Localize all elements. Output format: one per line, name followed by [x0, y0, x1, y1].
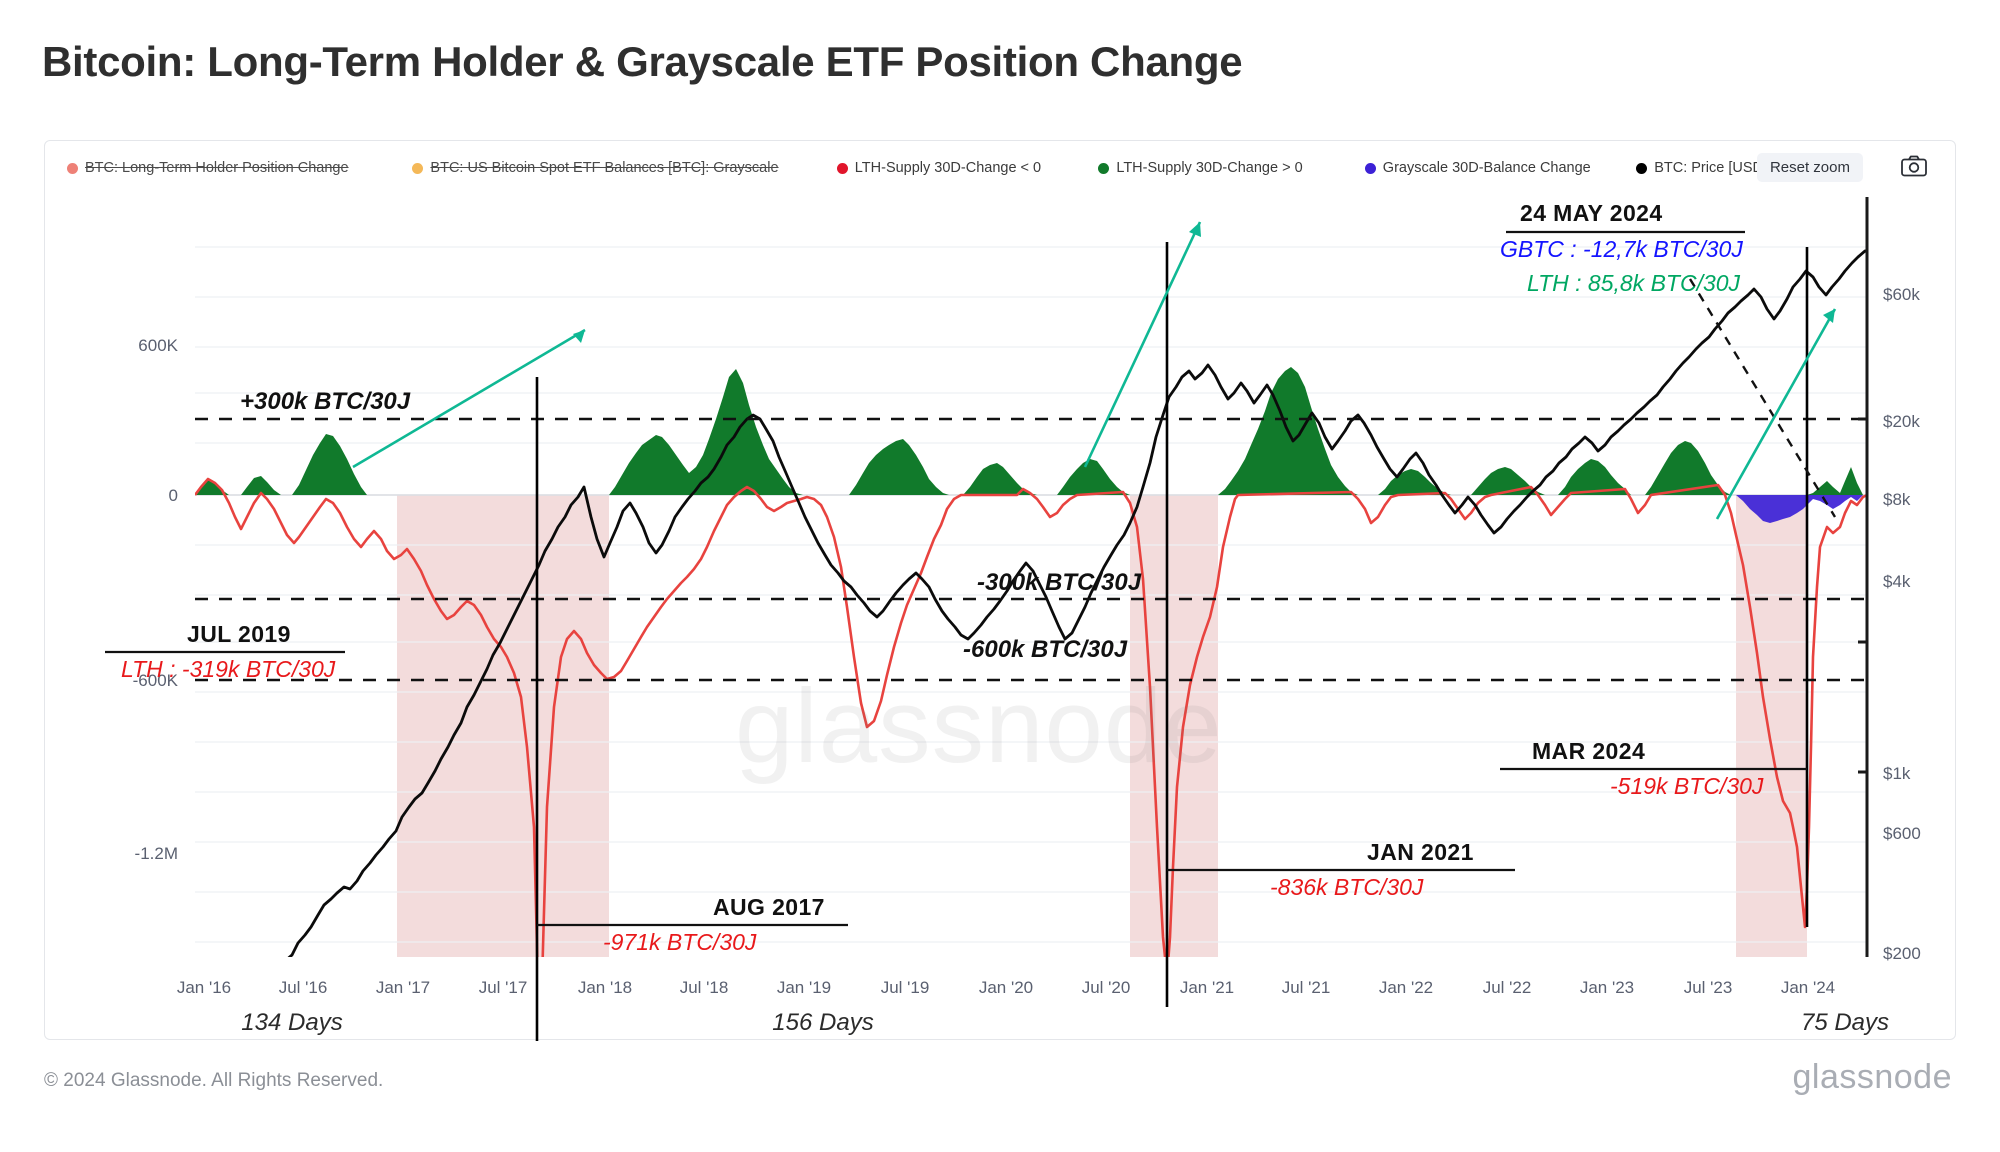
- annotation-value: -519k BTC/30J: [1610, 773, 1764, 799]
- legend-item-grayscale-etf-balances[interactable]: BTC: US Bitcoin Spot ETF Balances [BTC]:…: [412, 161, 836, 176]
- y-right-tick: $20k: [1883, 412, 1920, 431]
- days-label-134: 134 Days: [241, 1009, 342, 1036]
- plot-area: glassnode: [45, 187, 1957, 1041]
- x-tick: Jul '16: [279, 978, 328, 997]
- reset-zoom-button[interactable]: Reset zoom: [1757, 153, 1863, 182]
- trend-arrow-2: [1085, 222, 1200, 467]
- y-left-tick: 600K: [138, 336, 178, 355]
- reference-label-plus-300k: +300k BTC/30J: [240, 388, 411, 415]
- reference-label-minus-300k: -300k BTC/30J: [977, 569, 1142, 596]
- annotation-value: -971k BTC/30J: [603, 929, 757, 955]
- legend-label: LTH-Supply 30D-Change > 0: [1116, 161, 1302, 176]
- annotation-value: -836k BTC/30J: [1270, 874, 1424, 900]
- x-tick: Jan '24: [1781, 978, 1835, 997]
- x-tick: Jan '23: [1580, 978, 1634, 997]
- y-right-tick: $600: [1883, 824, 1921, 843]
- legend-dot-icon: [837, 163, 848, 174]
- x-tick: Jul '17: [479, 978, 528, 997]
- footer-copyright: © 2024 Glassnode. All Rights Reserved.: [44, 1070, 383, 1092]
- x-tick: Jul '20: [1082, 978, 1131, 997]
- annotation-title: AUG 2017: [713, 894, 825, 920]
- legend-label: BTC: Price [USD]: [1654, 161, 1767, 176]
- chart-svg: 600K 0 -600K -1.2M $60k $20k $8k $4k $1k…: [45, 187, 1957, 1041]
- legend-label: LTH-Supply 30D-Change < 0: [855, 161, 1041, 176]
- highlight-band-75-days: [1736, 495, 1807, 957]
- legend-item-lth-position-change[interactable]: BTC: Long-Term Holder Position Change: [67, 161, 412, 176]
- chart-page: Bitcoin: Long-Term Holder & Grayscale ET…: [0, 0, 2000, 1152]
- chart-legend: BTC: Long-Term Holder Position Change BT…: [67, 155, 1767, 181]
- legend-dot-icon: [1365, 163, 1376, 174]
- left-axis-labels: 600K 0 -600K -1.2M: [133, 336, 179, 863]
- x-tick: Jan '21: [1180, 978, 1234, 997]
- y-left-tick: -1.2M: [135, 844, 178, 863]
- legend-label: BTC: US Bitcoin Spot ETF Balances [BTC]:…: [430, 161, 778, 176]
- x-tick: Jul '18: [680, 978, 729, 997]
- y-right-tick: $4k: [1883, 572, 1911, 591]
- annotation-title: MAR 2024: [1532, 738, 1645, 764]
- annotation-24-may-2024: 24 MAY 2024 GBTC : -12,7k BTC/30J LTH : …: [1500, 200, 1745, 296]
- legend-dot-icon: [1098, 163, 1109, 174]
- y-right-tick: $8k: [1883, 490, 1911, 509]
- x-axis-labels: Jan '16 Jul '16 Jan '17 Jul '17 Jan '18 …: [177, 978, 1835, 997]
- page-title: Bitcoin: Long-Term Holder & Grayscale ET…: [42, 38, 1242, 86]
- y-right-tick: $200: [1883, 944, 1921, 963]
- annotation-jan-2021: JAN 2021 -836k BTC/30J: [1167, 839, 1515, 900]
- x-tick: Jan '17: [376, 978, 430, 997]
- reference-label-minus-600k: -600k BTC/30J: [963, 636, 1128, 663]
- legend-item-lth-supply-negative[interactable]: LTH-Supply 30D-Change < 0: [837, 161, 1099, 176]
- annotation-value-gbtc: GBTC : -12,7k BTC/30J: [1500, 236, 1743, 262]
- legend-dot-icon: [412, 163, 423, 174]
- chart-card: BTC: Long-Term Holder Position Change BT…: [44, 140, 1956, 1040]
- legend-item-btc-price[interactable]: BTC: Price [USD]: [1636, 161, 1767, 176]
- highlight-band-156-days: [1130, 495, 1218, 957]
- camera-icon[interactable]: [1897, 151, 1931, 181]
- right-axis-labels: $60k $20k $8k $4k $1k $600 $200: [1883, 285, 1921, 963]
- legend-label: Grayscale 30D-Balance Change: [1383, 161, 1591, 176]
- annotation-jul-2019: JUL 2019 LTH : -319k BTC/30J: [105, 621, 345, 682]
- legend-label: BTC: Long-Term Holder Position Change: [85, 161, 349, 176]
- y-right-tick: $60k: [1883, 285, 1920, 304]
- x-tick: Jan '19: [777, 978, 831, 997]
- legend-item-grayscale-balance-change[interactable]: Grayscale 30D-Balance Change: [1365, 161, 1636, 176]
- x-tick: Jul '21: [1282, 978, 1331, 997]
- y-right-tick: $1k: [1883, 764, 1911, 783]
- brand-logo: glassnode: [1792, 1058, 1952, 1097]
- days-label-75: 75 Days: [1801, 1009, 1889, 1036]
- days-label-156: 156 Days: [772, 1009, 873, 1036]
- camera-icon-glyph: [1901, 155, 1927, 177]
- legend-dot-icon: [1636, 163, 1647, 174]
- annotation-value: LTH : -319k BTC/30J: [121, 656, 336, 682]
- x-tick: Jan '22: [1379, 978, 1433, 997]
- annotation-title: 24 MAY 2024: [1520, 200, 1663, 226]
- annotation-value-lth: LTH : 85,8k BTC/30J: [1527, 270, 1741, 296]
- legend-item-lth-supply-positive[interactable]: LTH-Supply 30D-Change > 0: [1098, 161, 1364, 176]
- x-tick: Jan '16: [177, 978, 231, 997]
- x-tick: Jan '18: [578, 978, 632, 997]
- highlight-bands: [397, 495, 1807, 957]
- legend-dot-icon: [67, 163, 78, 174]
- x-tick: Jul '19: [881, 978, 930, 997]
- annotation-title: JUL 2019: [187, 621, 291, 647]
- x-tick: Jan '20: [979, 978, 1033, 997]
- x-tick: Jul '23: [1684, 978, 1733, 997]
- x-tick: Jul '22: [1483, 978, 1532, 997]
- highlight-band-134-days: [397, 495, 609, 957]
- annotation-title: JAN 2021: [1367, 839, 1474, 865]
- y-left-tick: 0: [169, 486, 178, 505]
